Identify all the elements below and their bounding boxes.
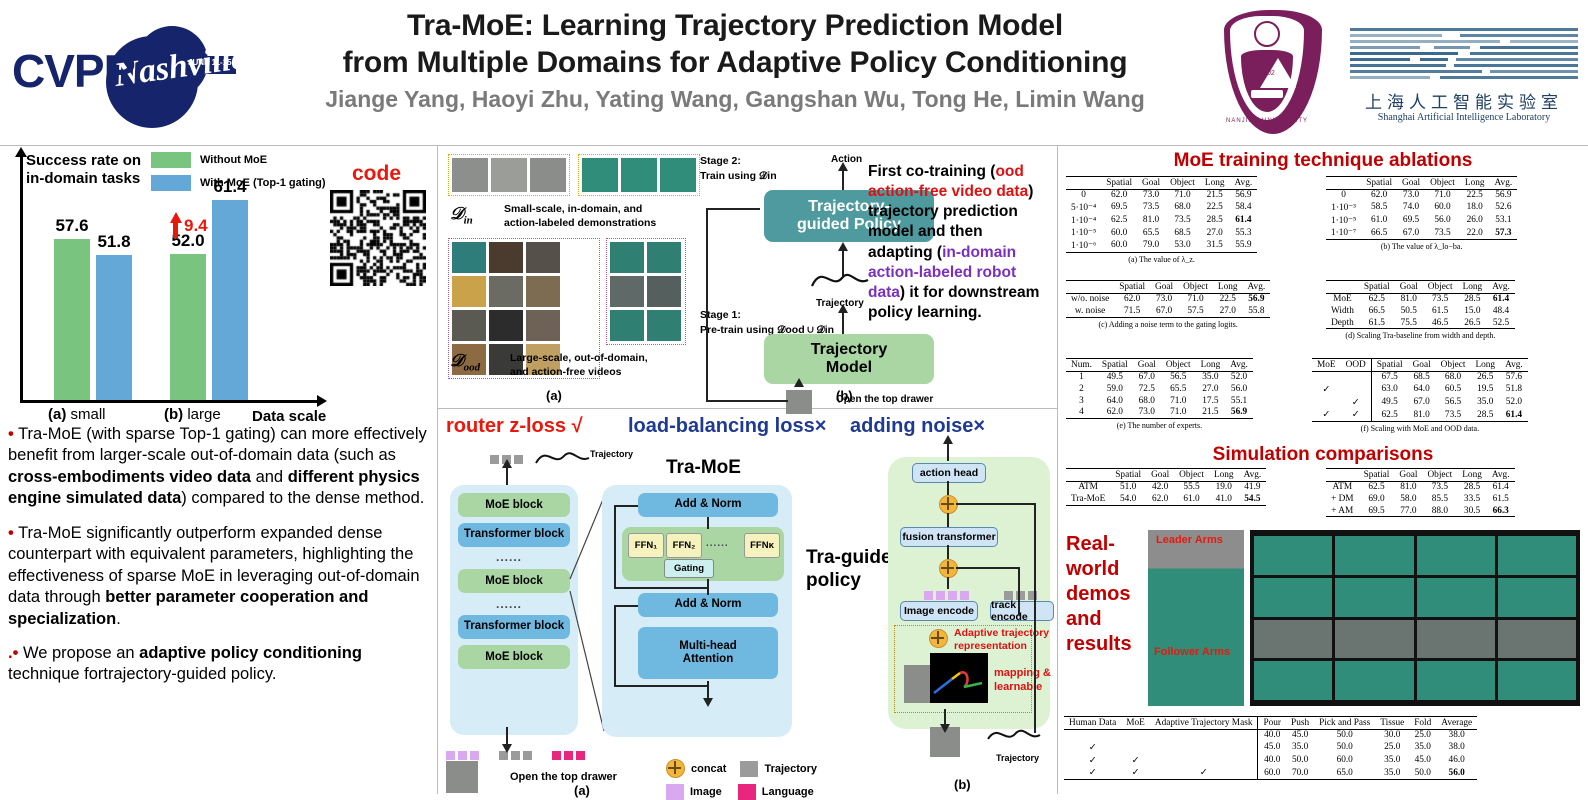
stage2-label: Stage 2:Train using 𝒟in xyxy=(700,154,777,183)
simulation-section-header: Simulation comparisons xyxy=(1058,444,1588,466)
col-header: Average xyxy=(1436,717,1477,730)
table-cell: 81.0 xyxy=(1408,408,1436,421)
table-cell xyxy=(1150,741,1258,754)
chart-x-axis-title: Data scale xyxy=(252,408,326,425)
table-header-row: Human DataMoEAdaptive Trajectory MaskPou… xyxy=(1064,717,1477,730)
router-zloss-header: router z-loss √ xyxy=(446,415,583,438)
col-header: Goal xyxy=(1408,359,1436,372)
table-cell: 54.0 xyxy=(1110,493,1146,505)
table-cell xyxy=(1341,371,1372,383)
table-cell: 71.0 xyxy=(1425,189,1460,201)
table-cell: 50.0 xyxy=(1409,766,1436,779)
table-cell: 42.0 xyxy=(1146,481,1174,493)
table-cell: 38.0 xyxy=(1436,741,1477,754)
table-cell: 25.0 xyxy=(1409,729,1436,741)
line-concat2-to-fusion xyxy=(947,545,949,559)
row-label: Tra-MoE xyxy=(1066,493,1110,505)
residual-h-2b xyxy=(614,685,708,687)
shanghai-ai-lab-logo: 上海人工智能实验室 Shanghai Artificial Intelligen… xyxy=(1350,28,1580,132)
table-cell: 60.0 xyxy=(1258,766,1286,779)
col-header: Long xyxy=(1457,469,1487,482)
table-cell: 57.3 xyxy=(1490,226,1518,239)
table-cell: 56.0 xyxy=(1425,214,1460,227)
table-cell: 61.5 xyxy=(1423,305,1458,317)
din-description: Small-scale, in-domain, andaction-labele… xyxy=(504,202,656,230)
table-row: ✓✓62.581.073.528.561.4 xyxy=(1312,408,1528,421)
table-cell: 56.9 xyxy=(1243,293,1271,305)
table-cell: 58.0 xyxy=(1394,493,1422,505)
row-label: 0 xyxy=(1066,189,1101,201)
table-row: 062.073.071.022.556.9 xyxy=(1326,189,1517,201)
table-cell: 61.5 xyxy=(1359,317,1395,329)
row-label: ✓ xyxy=(1064,754,1121,767)
bar-value-small-with-moe: 51.8 xyxy=(82,232,146,252)
table-cell: 62.5 xyxy=(1101,214,1137,227)
table-cell: 40.0 xyxy=(1258,754,1286,767)
col-header: Long xyxy=(1460,177,1490,190)
architecture-figure: router z-loss √ load-balancing loss× add… xyxy=(438,409,1058,795)
table-cell: 58.5 xyxy=(1361,201,1397,214)
qr-code-image[interactable] xyxy=(330,190,426,286)
bullet-3: .• We propose an adaptive policy conditi… xyxy=(8,643,432,686)
table-sim-left-wrapper: SpatialGoalObjectLongAvg.ATM51.042.055.5… xyxy=(1066,468,1266,506)
table-cell: 35.0 xyxy=(1286,741,1314,754)
col-header: Object xyxy=(1161,359,1196,372)
col-header: Object xyxy=(1423,281,1458,294)
table-cell: 73.0 xyxy=(1150,293,1178,305)
table-header-row: SpatialGoalObjectLongAvg. xyxy=(1326,177,1517,190)
col-header: Spatial xyxy=(1101,177,1137,190)
table-row: 1·10⁻⁷66.567.073.522.057.3 xyxy=(1326,226,1517,239)
table-cell: 73.5 xyxy=(1436,408,1471,421)
table-cell: 70.0 xyxy=(1286,766,1314,779)
nanjing-university-logo: 1902 NANJING UNIVERSITY xyxy=(1218,6,1328,138)
row-label: 1·10⁻³ xyxy=(1326,201,1361,214)
table-cell: 51.0 xyxy=(1110,481,1146,493)
table-cell: 28.5 xyxy=(1458,293,1488,305)
table-cell xyxy=(1121,729,1150,741)
col-header: Avg. xyxy=(1239,469,1267,482)
col-header: Object xyxy=(1422,469,1457,482)
residual-line-1 xyxy=(614,505,616,587)
trajectory-label-policy: Trajectory xyxy=(996,753,1039,763)
col-header: Tissue xyxy=(1375,717,1409,730)
table-cell: 81.0 xyxy=(1137,214,1165,227)
row-label: + AM xyxy=(1326,505,1359,517)
line-concat1-to-head xyxy=(947,481,949,495)
multihead-attention-block: Multi-headAttention xyxy=(638,627,778,679)
table-cell: 67.0 xyxy=(1150,305,1178,317)
table-header-row: SpatialGoalObjectLongAvg. xyxy=(1066,281,1270,294)
table-cell: 55.1 xyxy=(1225,395,1253,407)
col-header: Goal xyxy=(1397,177,1425,190)
table-cell: 45.0 xyxy=(1286,729,1314,741)
group-b-index: (b) xyxy=(164,406,183,423)
table-cell: 33.5 xyxy=(1457,493,1487,505)
table-row: Width66.550.561.515.048.4 xyxy=(1326,305,1515,317)
cvpr-logo: Nashville JUNE 11-15, 2025 CVPR xyxy=(8,14,238,129)
transformer-block-2: Transformer block xyxy=(458,615,570,639)
table-cell: 73.0 xyxy=(1397,189,1425,201)
left-column: Success rate on in-domain tasks Without … xyxy=(0,145,438,794)
arrow-stack-to-tokens xyxy=(506,467,508,485)
col-header: Object xyxy=(1165,177,1200,190)
col-header: Object xyxy=(1425,177,1460,190)
row-label: 0 xyxy=(1326,189,1361,201)
bullet-text: We propose an xyxy=(18,644,139,662)
input-image-thumb xyxy=(446,761,478,793)
table-cell: ✓ xyxy=(1121,754,1150,767)
table-sim-right-wrapper: SpatialGoalObjectLongAvg.ATM62.581.073.5… xyxy=(1326,468,1515,517)
vert-ffn-to-addnorm xyxy=(707,517,709,529)
table-cell: 62.0 xyxy=(1146,493,1174,505)
chart-group-label-small: (a) small xyxy=(48,406,106,423)
row-label: 1·10⁻⁵ xyxy=(1066,226,1101,239)
table-row: 364.068.071.017.555.1 xyxy=(1066,395,1253,407)
table-cell: 62.0 xyxy=(1097,406,1133,418)
table-cell: 54.5 xyxy=(1239,493,1267,505)
table-cell: 56.9 xyxy=(1490,189,1518,201)
table-cell: 68.5 xyxy=(1408,371,1436,383)
table-c-caption: (c) Adding a noise term to the gating lo… xyxy=(1066,320,1270,329)
table-cell: 27.0 xyxy=(1196,383,1226,395)
table-cell: 45.0 xyxy=(1258,741,1286,754)
row-label: 1·10⁻⁵ xyxy=(1326,214,1361,227)
col-header: Spatial xyxy=(1359,281,1395,294)
col-header: Spatial xyxy=(1114,281,1150,294)
bullet-text: . xyxy=(116,610,121,628)
table-cell: 56.9 xyxy=(1225,406,1253,418)
table-cell: 55.9 xyxy=(1230,239,1258,252)
feedback-line-h-top xyxy=(706,208,760,210)
row-label: ✓ xyxy=(1312,383,1341,396)
table-cell: 63.0 xyxy=(1371,383,1407,396)
page-title-line1: Tra-MoE: Learning Trajectory Prediction … xyxy=(250,8,1220,45)
table-cell: 66.5 xyxy=(1359,305,1395,317)
row-label: 4 xyxy=(1066,406,1097,418)
col-header: Goal xyxy=(1394,469,1422,482)
table-row: ✓45.035.050.025.035.038.0 xyxy=(1064,741,1477,754)
table-cell: 62.0 xyxy=(1101,189,1137,201)
bar-small-with-moe xyxy=(96,255,132,400)
vert-addnorm2-to-ffn xyxy=(707,579,709,595)
nju-year-label: 1902 xyxy=(1230,70,1304,77)
col-header: Avg. xyxy=(1487,469,1515,482)
table-cell: 65.0 xyxy=(1314,766,1375,779)
residual-h-2 xyxy=(614,605,638,607)
chart-y-axis xyxy=(20,156,23,402)
col-header: Long xyxy=(1458,281,1488,294)
table-cell: 73.5 xyxy=(1137,201,1165,214)
stack-ellipsis-2: ...... xyxy=(496,597,522,611)
col-header xyxy=(1066,177,1101,190)
instruction-label-arch: Open the top drawer xyxy=(510,771,617,783)
legend-label-concat: concat xyxy=(691,763,726,775)
col-header xyxy=(1066,469,1110,482)
table-row: + DM69.058.085.533.561.5 xyxy=(1326,493,1515,505)
col-header: Goal xyxy=(1146,469,1174,482)
bar-value-large-with-moe: 61.4 xyxy=(198,177,262,197)
din-symbol: 𝒟in xyxy=(450,204,473,226)
trajectory-squiggle-icon-2 xyxy=(534,447,592,473)
col-header: Pour xyxy=(1258,717,1286,730)
table-cell: 62.0 xyxy=(1361,189,1397,201)
table-row: 149.567.056.535.052.0 xyxy=(1066,371,1253,383)
table-cell: 66.3 xyxy=(1487,505,1515,517)
table-cell: 35.0 xyxy=(1375,754,1409,767)
bullet-1: • Tra-MoE (with sparse Top-1 gating) can… xyxy=(8,424,432,510)
table-cell: 35.0 xyxy=(1375,766,1409,779)
bullet-text: Tra-MoE (with sparse Top-1 gating) can m… xyxy=(8,425,427,464)
framework-caption-b: (b) xyxy=(836,388,853,403)
col-header: Push xyxy=(1286,717,1314,730)
col-header: Long xyxy=(1196,359,1226,372)
table-row: 40.045.050.030.025.038.0 xyxy=(1064,729,1477,741)
bar-large-without-moe xyxy=(170,254,206,400)
arrow-to-action-head xyxy=(947,443,949,461)
residual-line-2 xyxy=(614,605,616,685)
table-row: 062.073.071.021.556.9 xyxy=(1066,189,1257,201)
table-cell: 55.8 xyxy=(1243,305,1271,317)
row-label: w/o. noise xyxy=(1066,293,1114,305)
table-cell: 28.5 xyxy=(1470,408,1500,421)
moe-block-1: MoE block xyxy=(458,493,570,517)
table-cell: 62.5 xyxy=(1359,481,1395,493)
author-list: Jiange Yang, Haoyi Zhu, Yating Wang, Gan… xyxy=(250,86,1220,113)
table-cell: 62.0 xyxy=(1114,293,1150,305)
table-cell: 88.0 xyxy=(1422,505,1457,517)
table-header-row: SpatialGoalObjectLongAvg. xyxy=(1326,469,1515,482)
table-row: ATM62.581.073.528.561.4 xyxy=(1326,481,1515,493)
bullet-emphasis: cross-embodiments video data xyxy=(8,468,251,486)
table-b-wrapper: SpatialGoalObjectLongAvg.062.073.071.022… xyxy=(1326,176,1517,251)
col-header: Avg. xyxy=(1490,177,1518,190)
bullet-emphasis: adaptive policy conditioning xyxy=(139,644,362,662)
row-label: 1 xyxy=(1066,371,1097,383)
table-cell: 50.5 xyxy=(1395,305,1423,317)
expert-ffnk: FFNκ xyxy=(744,533,780,558)
table-header-row: SpatialGoalObjectLongAvg. xyxy=(1326,281,1515,294)
feedback-line-h-bottom xyxy=(706,400,788,402)
col-header: Avg. xyxy=(1243,281,1271,294)
table-header-row: Num.SpatialGoalObjectLongAvg. xyxy=(1066,359,1253,372)
col-header: Spatial xyxy=(1361,177,1397,190)
table-cell: 60.5 xyxy=(1436,383,1471,396)
legend-swatch-image xyxy=(666,784,684,800)
success-rate-bar-chart: Success rate on in-domain tasks Without … xyxy=(6,150,336,412)
table-cell: 55.3 xyxy=(1230,226,1258,239)
col-header: Human Data xyxy=(1064,717,1121,730)
din-thumbs-domain xyxy=(448,154,570,196)
table-cell: 56.0 xyxy=(1225,383,1253,395)
table-cell: 75.5 xyxy=(1395,317,1423,329)
col-header: Goal xyxy=(1150,281,1178,294)
ablation-table-moe-ood: MoEOODSpatialGoalObjectLongAvg.67.568.56… xyxy=(1312,358,1528,422)
ablation-table-lambda-lo-ba: SpatialGoalObjectLongAvg.062.073.071.022… xyxy=(1326,176,1517,240)
table-e-caption: (e) The number of experts. xyxy=(1066,421,1253,430)
gating-block: Gating xyxy=(664,559,714,578)
col-header: Object xyxy=(1436,359,1471,372)
table-cell: 51.8 xyxy=(1500,383,1528,396)
demo-frames-grid xyxy=(1254,536,1576,700)
bullet-text: technique fortrajectory-guided policy. xyxy=(8,665,276,683)
table-cell: 22.5 xyxy=(1200,201,1230,214)
bar-small-without-moe xyxy=(54,239,90,400)
table-d-wrapper: SpatialGoalObjectLongAvg.MoE62.581.073.5… xyxy=(1326,280,1515,340)
table-cell xyxy=(1341,383,1372,396)
table-cell: 30.0 xyxy=(1375,729,1409,741)
row-label: ✓ xyxy=(1064,766,1121,779)
trajectory-squiggle-icon xyxy=(810,268,872,296)
table-cell: 73.0 xyxy=(1137,189,1165,201)
table-cell: 77.0 xyxy=(1394,505,1422,517)
dood-description: Large-scale, out-of-domain,and action-fr… xyxy=(510,351,648,379)
follower-arms-label: Follower Arms xyxy=(1154,646,1230,658)
trajectory-label-arch: Trajectory xyxy=(590,449,633,459)
col-header xyxy=(1066,281,1114,294)
bullet-2: • Tra-MoE significantly outperform expan… xyxy=(8,523,432,630)
col-header: Avg. xyxy=(1500,359,1528,372)
simulation-table-left: SpatialGoalObjectLongAvg.ATM51.042.055.5… xyxy=(1066,468,1266,506)
table-cell xyxy=(1150,729,1258,741)
table-cell: 50.0 xyxy=(1314,729,1375,741)
table-cell: 27.0 xyxy=(1213,305,1243,317)
expert-ffn2: FFN₂ xyxy=(666,533,702,558)
sail-chinese-label: 上海人工智能实验室 xyxy=(1350,88,1578,113)
table-cell: 67.0 xyxy=(1408,396,1436,409)
table-row: 67.568.568.026.557.6 xyxy=(1312,371,1528,383)
table-cell: 61.4 xyxy=(1487,293,1515,305)
table-cell xyxy=(1121,741,1150,754)
delta-value-label: 9.4 xyxy=(184,216,208,236)
expert-ffn1: FFN₁ xyxy=(628,533,664,558)
nju-name-label: NANJING UNIVERSITY xyxy=(1218,118,1316,124)
table-row: 1·10⁻⁴62.581.073.528.561.4 xyxy=(1066,214,1257,227)
table-f-wrapper: MoEOODSpatialGoalObjectLongAvg.67.568.56… xyxy=(1312,358,1528,433)
col-header: Long xyxy=(1213,281,1243,294)
legend-label-trajectory: Trajectory xyxy=(764,763,817,775)
table-cell: 57.6 xyxy=(1500,371,1528,383)
add-norm-block-2: Add & Norm xyxy=(638,593,778,617)
zoom-connector-lines xyxy=(568,495,606,735)
table-cell: 73.5 xyxy=(1425,226,1460,239)
arch-caption-b: (b) xyxy=(954,777,971,792)
poster-root: Nashville JUNE 11-15, 2025 CVPR Tra-MoE:… xyxy=(0,0,1588,794)
sail-bars-icon xyxy=(1350,28,1578,86)
residual-h-1 xyxy=(614,505,638,507)
row-label xyxy=(1312,371,1341,383)
col-header: Num. xyxy=(1066,359,1097,372)
table-row: 462.073.071.021.556.9 xyxy=(1066,406,1253,418)
row-label: + DM xyxy=(1326,493,1359,505)
table-cell: 56.5 xyxy=(1436,396,1471,409)
table-cell: 41.0 xyxy=(1209,493,1239,505)
table-cell: 21.5 xyxy=(1200,189,1230,201)
table-cell: 69.5 xyxy=(1397,214,1425,227)
track-encode-block: track encode xyxy=(990,601,1054,621)
code-qr-label: code xyxy=(352,162,401,186)
table-cell: 52.0 xyxy=(1500,396,1528,409)
table-row: ✓✓40.050.060.035.045.046.0 xyxy=(1064,754,1477,767)
realworld-human-data-table: Human DataMoEAdaptive Trajectory MaskPou… xyxy=(1064,716,1477,780)
table-cell: 49.5 xyxy=(1371,396,1407,409)
framework-caption-a: (a) xyxy=(546,388,562,403)
group-a-name: small xyxy=(66,406,105,423)
table-row: 1·10⁻⁵60.065.568.527.055.3 xyxy=(1066,226,1257,239)
table-cell: 67.5 xyxy=(1371,371,1407,383)
poster-header: Nashville JUNE 11-15, 2025 CVPR Tra-MoE:… xyxy=(0,0,1588,145)
table-row: w/o. noise62.073.071.022.556.9 xyxy=(1066,293,1270,305)
load-balancing-header: load-balancing loss× xyxy=(628,415,826,438)
table-cell: 53.0 xyxy=(1165,239,1200,252)
table-cell: 73.5 xyxy=(1422,481,1457,493)
table-cell: ✓ xyxy=(1121,766,1150,779)
col-header: Object xyxy=(1174,469,1209,482)
row-label: 2 xyxy=(1066,383,1097,395)
col-header: Long xyxy=(1200,177,1230,190)
legend-swatch-with-moe xyxy=(151,175,191,191)
bullet-marker: .• xyxy=(8,644,18,662)
ablation-table-lambda-z: SpatialGoalObjectLongAvg.062.073.071.021… xyxy=(1066,176,1257,253)
table-row: 5·10⁻⁴69.573.568.022.558.4 xyxy=(1066,201,1257,214)
table-b-caption: (b) The value of λ_lo−ba. xyxy=(1326,242,1517,251)
table-cell: 65.5 xyxy=(1137,226,1165,239)
table-row: 1·10⁻⁵61.069.556.026.053.1 xyxy=(1326,214,1517,227)
table-cell: 71.0 xyxy=(1161,395,1196,407)
row-label: MoE xyxy=(1326,293,1359,305)
table-cell: 26.5 xyxy=(1458,317,1488,329)
fusion-transformer-block: fusion transformer xyxy=(900,527,998,547)
table-a-caption: (a) The value of λ_z. xyxy=(1066,255,1257,264)
table-cell: 41.9 xyxy=(1239,481,1267,493)
cotraining-description: First co-training (ood action-free video… xyxy=(868,162,1046,323)
table-row: ✓63.064.060.519.551.8 xyxy=(1312,383,1528,396)
table-cell: 53.1 xyxy=(1490,214,1518,227)
table-cell: 62.5 xyxy=(1359,293,1395,305)
table-cell: 64.0 xyxy=(1097,395,1133,407)
table-cell: 40.0 xyxy=(1258,729,1286,741)
table-cell: 46.0 xyxy=(1436,754,1477,767)
middle-column: 𝒟in Small-scale, in-domain, andaction-la… xyxy=(438,145,1058,794)
table-cell: 73.0 xyxy=(1133,406,1161,418)
table-cell: 71.5 xyxy=(1114,305,1150,317)
table-cell: 56.0 xyxy=(1436,766,1477,779)
table-cell: 35.0 xyxy=(1196,371,1226,383)
teleoperation-photo xyxy=(1148,530,1244,706)
table-header-row: MoEOODSpatialGoalObjectLongAvg. xyxy=(1312,359,1528,372)
leader-arms-label: Leader Arms xyxy=(1156,534,1223,546)
chart-group-label-large: (b) large xyxy=(164,406,221,423)
concat-node-3 xyxy=(929,629,948,648)
table-row: Tra-MoE54.062.061.041.054.5 xyxy=(1066,493,1266,505)
col-header: Adaptive Trajectory Mask xyxy=(1150,717,1258,730)
transformer-block-1: Transformer block xyxy=(458,523,570,547)
row-label xyxy=(1312,396,1341,409)
table-cell: 49.5 xyxy=(1097,371,1133,383)
row-label: ATM xyxy=(1326,481,1359,493)
table-row: 259.072.565.527.056.0 xyxy=(1066,383,1253,395)
table-cell: 61.0 xyxy=(1174,493,1209,505)
table-cell: 65.5 xyxy=(1161,383,1196,395)
table-cell: 81.0 xyxy=(1394,481,1422,493)
din-thumbs-robot xyxy=(578,154,700,196)
table-cell: 61.4 xyxy=(1500,408,1528,421)
table-row: w. noise71.567.057.527.055.8 xyxy=(1066,305,1270,317)
track-feedback-h xyxy=(956,503,1036,505)
arch-caption-a: (a) xyxy=(574,783,590,798)
col-header: Long xyxy=(1470,359,1500,372)
col-header: Spatial xyxy=(1359,469,1395,482)
